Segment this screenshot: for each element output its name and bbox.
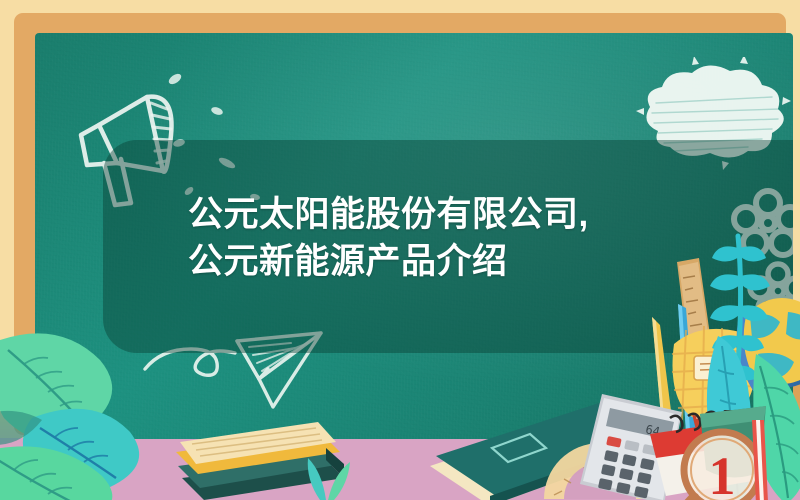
striped-pencil: [742, 418, 782, 500]
magnifier-badge-value: 1: [709, 446, 736, 500]
sprout-bottom: [286, 452, 366, 500]
title-line-1: 公元太阳能股份有限公司,: [188, 191, 748, 238]
poster-canvas: 公元太阳能股份有限公司, 公元新能源产品介绍: [0, 0, 800, 500]
